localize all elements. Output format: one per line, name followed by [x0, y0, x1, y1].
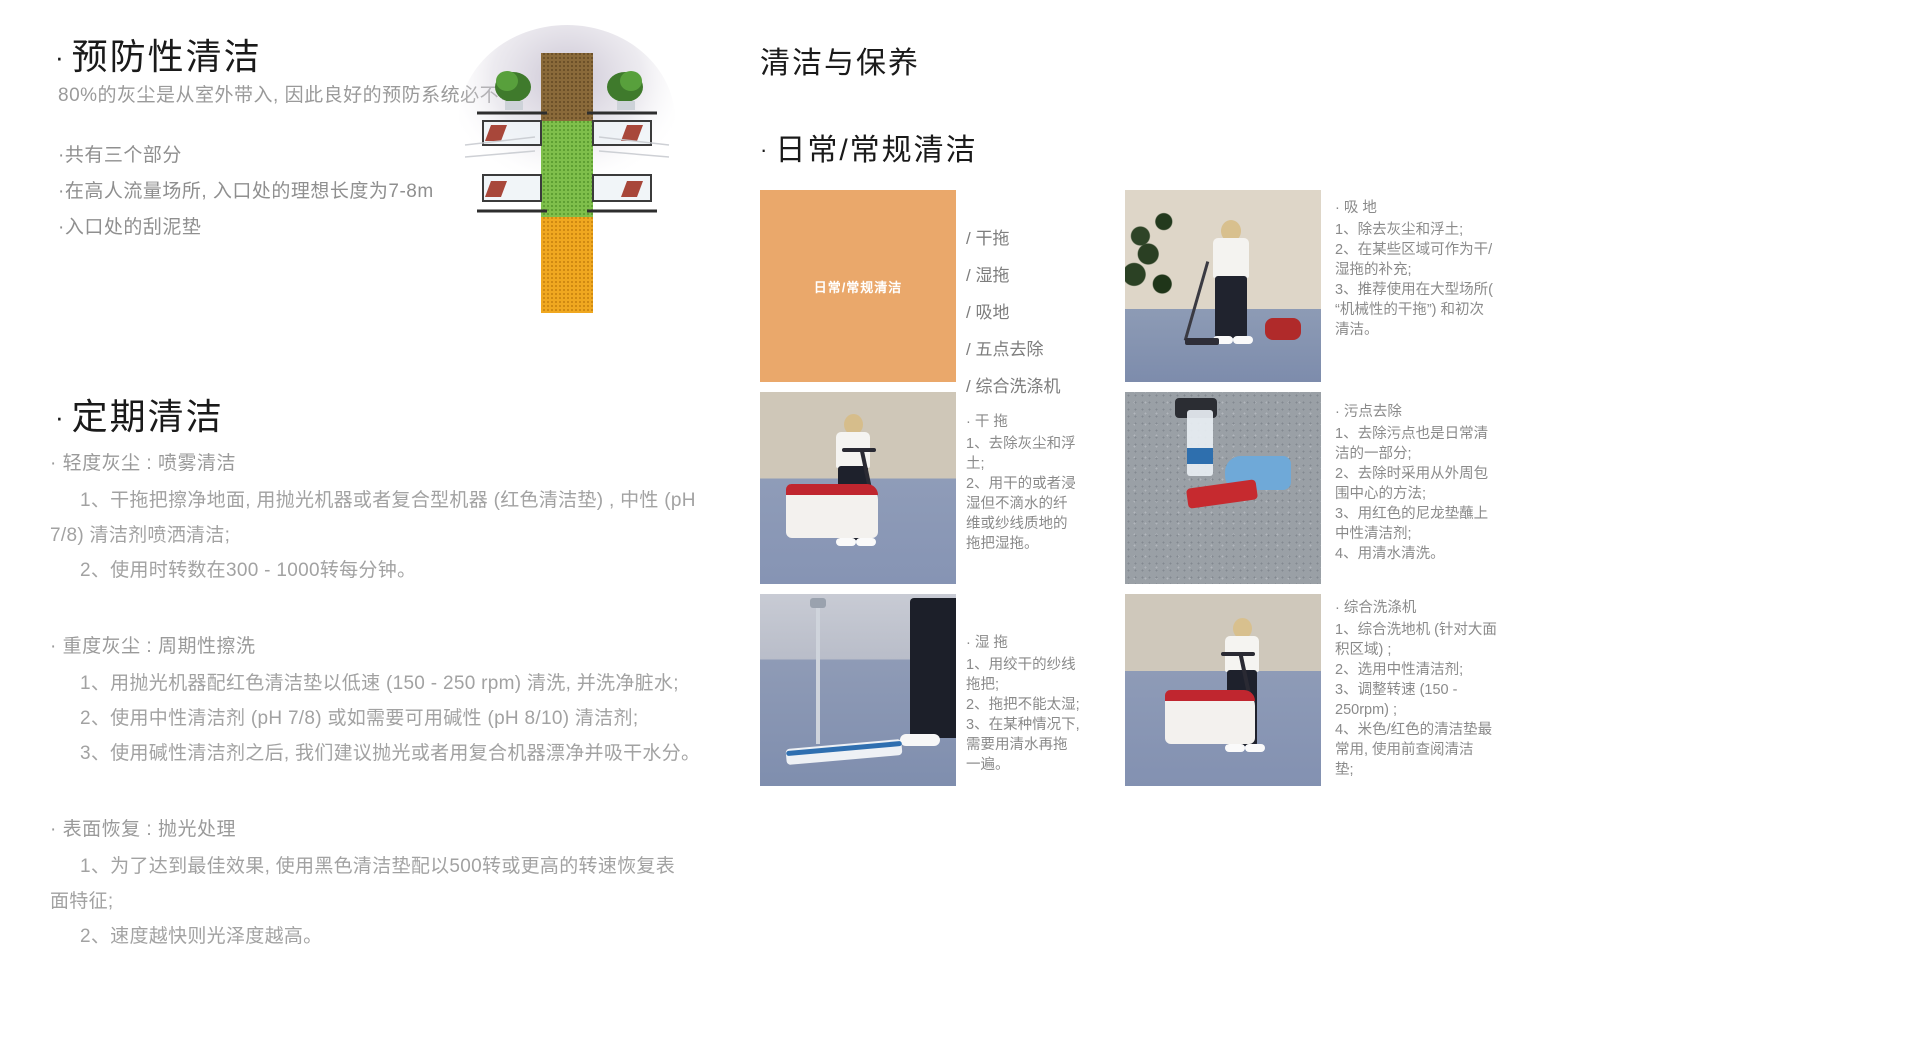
bullet-dot-icon: ·	[55, 42, 66, 72]
text-block-wet-mop: · 湿 拖 1、用绞干的纱线 拖把; 2、拖把不能太湿; 3、在某种情况下, 需…	[966, 633, 1116, 775]
tb4-l6: 常用, 使用前查阅清洁	[1335, 740, 1580, 760]
tb4-l5: 4、米色/红色的清洁垫最	[1335, 720, 1580, 740]
slide-page: ·预防性清洁 80%的灰尘是从室外带入, 因此良好的预防系统必不可 ·共有三个部…	[0, 0, 1920, 1037]
tb0-l3: 湿但不滴水的纤	[966, 494, 1116, 514]
tb4-l1: 积区域) ;	[1335, 640, 1580, 660]
person-legs-c	[910, 598, 956, 738]
method-item-0: / 干拖	[966, 220, 1116, 257]
group-0-line-0: 1、干拖把擦净地面, 用抛光机器或者复合型机器 (红色清洁垫) , 中性 (pH	[80, 485, 696, 512]
orange-label-block: 日常/常规清洁	[760, 190, 956, 382]
tb1-l1: 拖把;	[966, 675, 1116, 695]
tb0-l0: 1、去除灰尘和浮	[966, 434, 1116, 454]
spray-bottle-label	[1187, 448, 1213, 464]
tb1-l2: 2、拖把不能太湿;	[966, 695, 1116, 715]
spray-bottle	[1187, 410, 1213, 476]
bullet-dot-icon-2: ·	[55, 402, 66, 432]
group-0-line-1: 7/8) 清洁剂喷洒清洁;	[50, 520, 230, 547]
tb0-title: · 干 拖	[966, 412, 1116, 432]
photo-wet-mop	[760, 594, 956, 786]
mop-pole-top	[810, 598, 826, 608]
tb2-l4: “机械性的干拖”) 和初次	[1335, 300, 1580, 320]
tb4-l3: 3、调整转速 (150 -	[1335, 680, 1580, 700]
machine-bar-b	[842, 448, 876, 452]
preventive-cleaning-heading: ·预防性清洁	[55, 28, 262, 80]
tb3-l1: 洁的一部分;	[1335, 444, 1580, 464]
method-list: / 干拖 / 湿拖 / 吸地 / 五点去除 / 综合洗涤机	[966, 220, 1116, 405]
photo-spot-removal	[1125, 392, 1321, 584]
photo-scrubber-2	[1125, 594, 1321, 786]
preventive-bullet-0: ·共有三个部分	[58, 140, 182, 167]
plant-decor	[1125, 200, 1195, 320]
tb2-l5: 清洁。	[1335, 320, 1580, 340]
group-1-line-2: 3、使用碱性清洁剂之后, 我们建议抛光或者用复合机器漂净并吸干水分。	[80, 738, 700, 765]
person-shoe-right-b	[856, 538, 876, 546]
person-shoe-right	[1233, 336, 1253, 344]
machine-stripe-e	[1165, 690, 1255, 701]
group-2-label: · 表面恢复 : 抛光处理	[50, 814, 236, 841]
preventive-bullet-1: ·在高人流量场所, 入口处的理想长度为7-8m	[58, 176, 434, 203]
photo-scrubber-1	[760, 392, 956, 584]
tb2-title: · 吸 地	[1335, 198, 1580, 218]
tb3-l0: 1、去除污点也是日常清	[1335, 424, 1580, 444]
tb0-l5: 拖把湿拖。	[966, 534, 1116, 554]
method-item-2: / 吸地	[966, 294, 1116, 331]
tb3-title: · 污点去除	[1335, 402, 1580, 422]
person-shirt	[1213, 238, 1249, 278]
right-main-heading: 清洁与保养	[760, 38, 920, 82]
mop-pole	[816, 604, 820, 744]
tb2-l3: 3、推荐使用在大型场所(	[1335, 280, 1580, 300]
group-0-line-2: 2、使用时转数在300 - 1000转每分钟。	[80, 555, 416, 582]
tb2-l0: 1、除去灰尘和浮土;	[1335, 220, 1580, 240]
group-2-line-0: 1、为了达到最佳效果, 使用黑色清洁垫配以500转或更高的转速恢复表	[80, 851, 675, 878]
tb4-l2: 2、选用中性清洁剂;	[1335, 660, 1580, 680]
tb0-l2: 2、用干的或者浸	[966, 474, 1116, 494]
orange-block-label: 日常/常规清洁	[814, 277, 903, 296]
tb1-l0: 1、用绞干的纱线	[966, 655, 1116, 675]
tb3-l5: 中性清洁剂;	[1335, 524, 1580, 544]
tb2-l1: 2、在某些区域可作为干/	[1335, 240, 1580, 260]
machine-stripe-b	[786, 484, 878, 495]
tb3-l3: 围中心的方法;	[1335, 484, 1580, 504]
group-1-line-0: 1、用抛光机器配红色清洁垫以低速 (150 - 250 rpm) 清洗, 并洗净…	[80, 668, 679, 695]
periodic-cleaning-heading: ·定期清洁	[55, 388, 224, 440]
preventive-cleaning-subtitle: 80%的灰尘是从室外带入, 因此良好的预防系统必不可	[58, 80, 519, 107]
vacuum-body	[1265, 318, 1301, 340]
group-1-line-1: 2、使用中性清洁剂 (pH 7/8) 或如需要可用碱性 (pH 8/10) 清洁…	[80, 703, 638, 730]
machine-bar-e	[1221, 652, 1255, 656]
text-block-combined-scrubber: · 综合洗涤机 1、综合洗地机 (针对大面 积区域) ; 2、选用中性清洁剂; …	[1335, 598, 1580, 780]
tb1-l4: 需要用清水再拖	[966, 735, 1116, 755]
tb1-l5: 一遍。	[966, 755, 1116, 775]
vacuum-nozzle	[1185, 338, 1219, 345]
photo-vacuuming	[1125, 190, 1321, 382]
method-item-3: / 五点去除	[966, 331, 1116, 368]
person-shoe-left-e	[1225, 744, 1245, 752]
person-trousers	[1215, 276, 1247, 338]
method-item-1: / 湿拖	[966, 257, 1116, 294]
tb3-l4: 3、用红色的尼龙垫蘸上	[1335, 504, 1580, 524]
group-0-label: · 轻度灰尘 : 喷雾清洁	[50, 448, 236, 475]
group-2-line-2: 2、速度越快则光泽度越高。	[80, 921, 322, 948]
tb0-l1: 土;	[966, 454, 1116, 474]
tb3-l6: 4、用清水清洗。	[1335, 544, 1580, 564]
text-block-dry-mop: · 干 拖 1、去除灰尘和浮 土; 2、用干的或者浸 湿但不滴水的纤 维或纱线质…	[966, 412, 1116, 554]
group-1-label: · 重度灰尘 : 周期性擦洗	[50, 631, 255, 658]
tb4-title: · 综合洗涤机	[1335, 598, 1580, 618]
tb1-l3: 3、在某种情况下,	[966, 715, 1116, 735]
right-sub-heading: ·日常/常规清洁	[760, 125, 978, 169]
tb1-title: · 湿 拖	[966, 633, 1116, 653]
tb4-l7: 垫;	[1335, 760, 1580, 780]
text-block-spot-removal: · 污点去除 1、去除污点也是日常清 洁的一部分; 2、去除时采用从外周包 围中…	[1335, 402, 1580, 564]
right-column: 清洁与保养 ·日常/常规清洁 日常/常规清洁 / 干拖 / 湿拖 / 吸地 / …	[755, 0, 1920, 1037]
text-block-vacuuming: · 吸 地 1、除去灰尘和浮土; 2、在某些区域可作为干/ 湿拖的补充; 3、推…	[1335, 198, 1580, 340]
tb4-l0: 1、综合洗地机 (针对大面	[1335, 620, 1580, 640]
tb0-l4: 维或纱线质地的	[966, 514, 1116, 534]
entrance-mat-illustration	[455, 25, 685, 325]
person-shoe-left-b	[836, 538, 856, 546]
person-shoe-right-e	[1245, 744, 1265, 752]
preventive-bullet-2: ·入口处的刮泥垫	[58, 212, 201, 239]
person-shoe-c	[900, 734, 940, 746]
tb2-l2: 湿拖的补充;	[1335, 260, 1580, 280]
tb3-l2: 2、去除时采用从外周包	[1335, 464, 1580, 484]
tb4-l4: 250rpm) ;	[1335, 700, 1580, 720]
method-item-4: / 综合洗涤机	[966, 368, 1116, 405]
group-2-line-1: 面特征;	[50, 886, 113, 913]
bullet-dot-icon-3: ·	[760, 137, 769, 162]
